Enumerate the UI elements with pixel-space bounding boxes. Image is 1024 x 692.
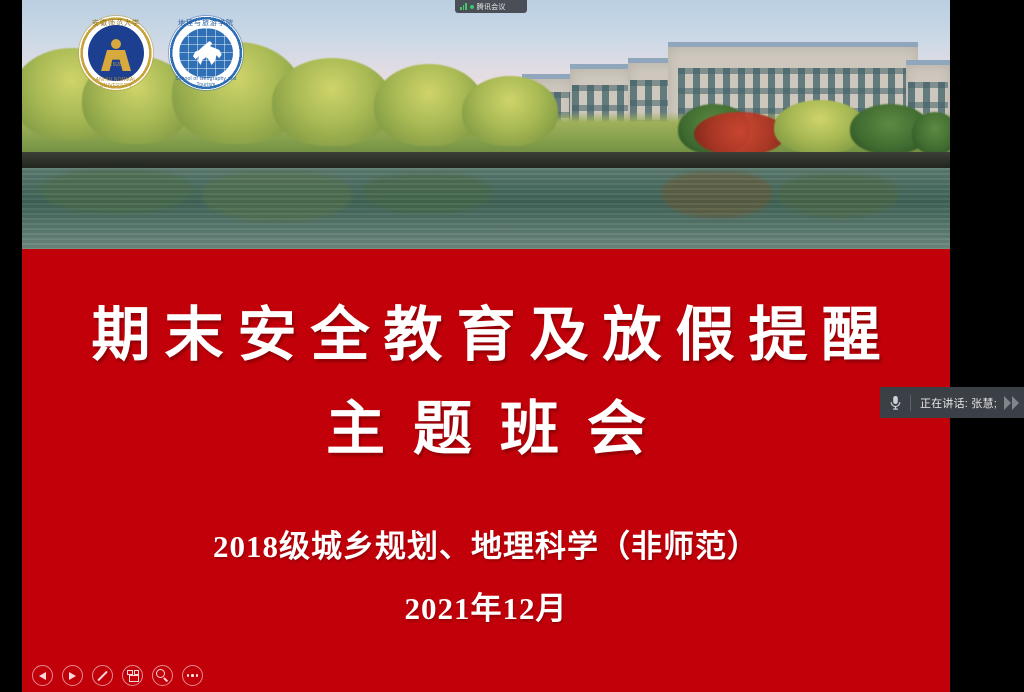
- tencent-meeting-label: 腾讯会议: [477, 2, 506, 12]
- tencent-meeting-pill[interactable]: 腾讯会议: [455, 0, 527, 13]
- screen-root: 安徽师范大学 1928 ANHUI NORMAL UNIVERSITY 地理与旅…: [0, 0, 1024, 692]
- collapse-arrow-icon[interactable]: [998, 396, 1024, 410]
- water-reflection: [42, 170, 192, 214]
- green-status-dot: [470, 5, 474, 9]
- slideshow-toolbar: [32, 665, 203, 686]
- red-maple-tree: [694, 112, 786, 156]
- school-of-geography-and-tourism-logo: 地理与旅游学院 School of Geography and Tourism: [169, 16, 243, 90]
- globe-icon: [179, 28, 233, 78]
- previous-slide-button[interactable]: [32, 665, 53, 686]
- logo-inner-disc: 1928: [88, 25, 144, 81]
- grid-layout-icon: [127, 670, 139, 682]
- water-reflection: [362, 174, 492, 214]
- slide-title-line-2: 主题班会: [22, 400, 950, 459]
- logo-en-name: School of Geography and Tourism: [169, 76, 243, 88]
- water-reflection: [202, 172, 352, 222]
- more-options-button[interactable]: [182, 665, 203, 686]
- ellipsis-icon: [187, 674, 199, 677]
- microphone-icon: [880, 395, 910, 411]
- anhui-normal-university-logo: 安徽师范大学 1928 ANHUI NORMAL UNIVERSITY: [79, 16, 153, 90]
- triangle-left-icon: [39, 672, 46, 680]
- active-speaker-bar[interactable]: 正在讲话: 张慧;: [880, 387, 1024, 418]
- horse-icon: [191, 40, 223, 66]
- logo-cn-name: 地理与旅游学院: [169, 18, 243, 28]
- slide-overview-button[interactable]: [122, 665, 143, 686]
- speaker-name-label: 正在讲话: 张慧;: [911, 395, 998, 411]
- triangle-right-icon: [69, 672, 76, 680]
- logo-year: 1928: [88, 62, 144, 68]
- green-tree: [912, 112, 950, 154]
- magnifier-icon: [156, 669, 169, 682]
- water-reflection: [778, 174, 898, 218]
- presentation-slide: 安徽师范大学 1928 ANHUI NORMAL UNIVERSITY 地理与旅…: [22, 0, 950, 692]
- signal-bars-icon: [460, 3, 467, 10]
- zoom-button[interactable]: [152, 665, 173, 686]
- next-slide-button[interactable]: [62, 665, 83, 686]
- willow-tree: [462, 76, 558, 146]
- water-reflection: [662, 172, 772, 218]
- pen-icon: [97, 670, 107, 680]
- banner-photo: 安徽师范大学 1928 ANHUI NORMAL UNIVERSITY 地理与旅…: [22, 0, 950, 249]
- logo-en-name: ANHUI NORMAL UNIVERSITY: [79, 77, 153, 89]
- slide-text-block: 期末安全教育及放假提醒 主题班会 2018级城乡规划、地理科学（非师范） 202…: [22, 249, 950, 628]
- slide-subtitle-class: 2018级城乡规划、地理科学（非师范）: [22, 521, 950, 566]
- pen-annotate-button[interactable]: [92, 665, 113, 686]
- canal-water: [22, 168, 950, 249]
- slide-subtitle-date: 2021年12月: [22, 583, 950, 628]
- slide-title-line-1: 期末安全教育及放假提醒: [22, 306, 950, 365]
